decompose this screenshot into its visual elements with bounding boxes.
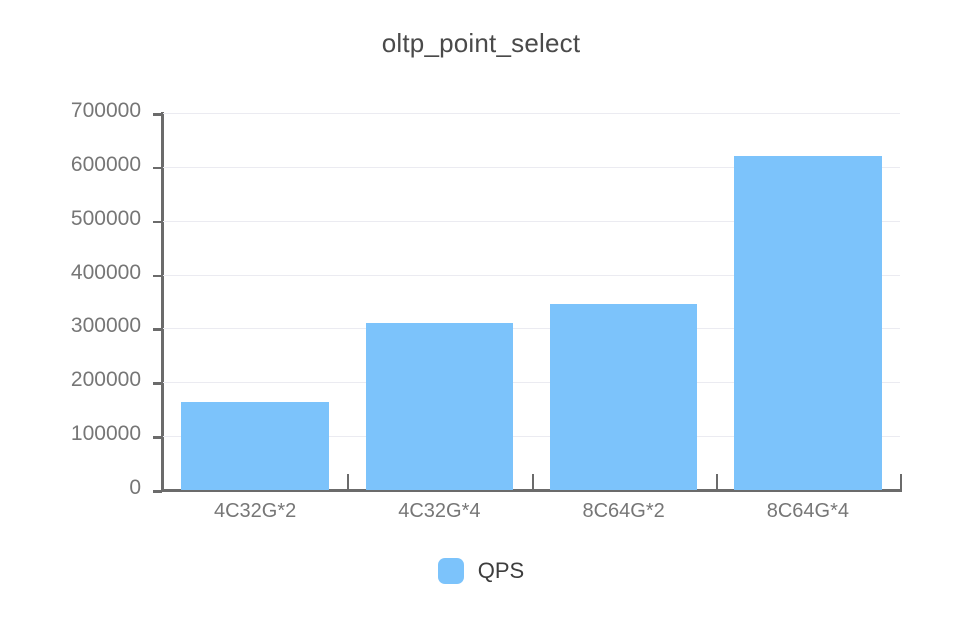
x-axis-tick-label: 8C64G*2 bbox=[532, 500, 716, 523]
bar[interactable] bbox=[181, 402, 328, 490]
x-axis-tick-mark bbox=[347, 474, 349, 490]
legend-item[interactable]: QPS bbox=[438, 558, 524, 584]
y-axis-tick-label: 0 bbox=[31, 476, 141, 500]
y-axis-tick-mark bbox=[153, 167, 162, 170]
y-axis-tick-label: 400000 bbox=[31, 261, 141, 285]
bar[interactable] bbox=[366, 323, 513, 490]
y-axis-tick-mark bbox=[153, 490, 162, 493]
y-axis-tick-label: 600000 bbox=[31, 153, 141, 177]
y-axis-tick-label: 300000 bbox=[31, 314, 141, 338]
bar-chart: oltp_point_select 0100000200000300000400… bbox=[0, 0, 962, 634]
x-axis-tick-mark bbox=[716, 474, 718, 490]
y-axis-tick-mark bbox=[153, 382, 162, 385]
y-axis-tick-mark bbox=[153, 275, 162, 278]
y-axis-tick-mark bbox=[153, 328, 162, 331]
legend-swatch-icon bbox=[438, 558, 464, 584]
gridline bbox=[163, 113, 900, 114]
y-axis-tick-labels: 0100000200000300000400000500000600000700… bbox=[28, 0, 141, 634]
y-axis-tick-label: 200000 bbox=[31, 368, 141, 392]
x-axis-tick-mark bbox=[532, 474, 534, 490]
chart-title: oltp_point_select bbox=[0, 28, 962, 59]
y-axis-tick-mark bbox=[153, 221, 162, 224]
y-axis-tick-mark bbox=[153, 113, 162, 116]
y-axis-tick-label: 100000 bbox=[31, 422, 141, 446]
legend-label: QPS bbox=[478, 558, 524, 584]
x-axis-tick-label: 4C32G*4 bbox=[347, 500, 531, 523]
chart-legend: QPS bbox=[0, 558, 962, 584]
x-axis-tick-mark bbox=[900, 474, 902, 490]
y-axis-tick-label: 500000 bbox=[31, 207, 141, 231]
y-axis-tick-label: 700000 bbox=[31, 99, 141, 123]
y-axis-tick-mark bbox=[153, 436, 162, 439]
x-axis-tick-label: 4C32G*2 bbox=[163, 500, 347, 523]
bar[interactable] bbox=[734, 156, 881, 490]
plot-area bbox=[163, 113, 900, 490]
bar[interactable] bbox=[550, 304, 697, 490]
x-axis-tick-label: 8C64G*4 bbox=[716, 500, 900, 523]
